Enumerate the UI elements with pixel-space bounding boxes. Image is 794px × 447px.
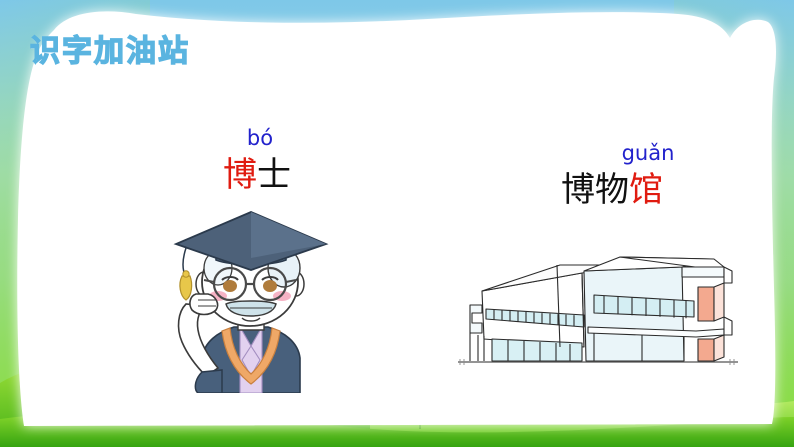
pinyin-boshi: bó (150, 128, 360, 149)
hanzi-char-shi: 士 (257, 155, 291, 195)
hanzi-char-wu: 物 (595, 170, 629, 210)
page-title: 识字加油站 (30, 26, 190, 70)
word-card-bowuguan: guǎn 博物馆 (500, 143, 720, 209)
hanzi-bowuguan: 博物馆 (500, 172, 720, 209)
hanzi-char-guan: 馆 (629, 170, 663, 210)
pinyin-bowuguan: guǎn (500, 143, 720, 164)
professor-illustration (160, 208, 340, 393)
hanzi-char-bo2: 博 (561, 170, 595, 210)
hanzi-char-bo: 博 (223, 155, 257, 195)
museum-building-illustration (452, 243, 742, 373)
slide-canvas: 识字加油站 bó 博士 guǎn 博物馆 (0, 0, 794, 447)
word-card-boshi: bó 博士 (150, 128, 360, 194)
hanzi-boshi: 博士 (150, 157, 360, 194)
